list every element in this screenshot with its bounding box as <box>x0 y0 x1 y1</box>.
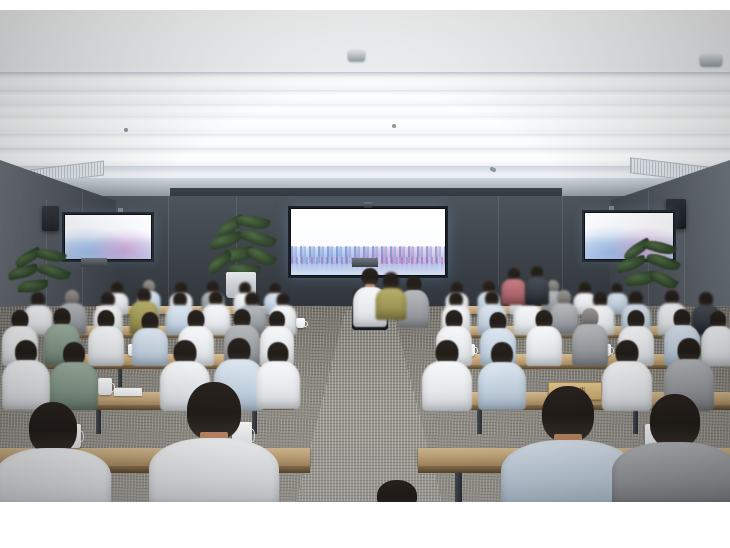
ceiling-light-strip <box>0 79 730 90</box>
conference-room-photo: 中子台 张建华 <box>0 10 730 502</box>
attendee-foreground <box>146 382 282 502</box>
camera-icon <box>363 202 373 208</box>
attendee-foreground <box>610 394 730 502</box>
ceiling-light-strip <box>0 154 730 166</box>
ceiling-speaker-icon <box>700 54 722 66</box>
attendee-foreground <box>0 402 120 502</box>
attendee-woman <box>374 272 408 318</box>
left-screen-mount <box>81 258 107 267</box>
attendee <box>524 266 550 304</box>
attendee <box>48 342 100 406</box>
attendee-foreground <box>352 480 442 502</box>
attendee <box>524 310 564 364</box>
smoke-detector-icon <box>348 50 365 61</box>
ceiling-light-strip <box>0 139 730 148</box>
document <box>114 388 142 396</box>
attendee <box>0 340 52 406</box>
ceiling-light-strip <box>0 120 730 134</box>
ceiling <box>0 10 730 192</box>
attendee <box>420 340 474 406</box>
mug <box>98 378 112 395</box>
screenshot-root: 中子台 张建华 <box>0 0 730 548</box>
ceiling-light-strip <box>0 95 730 104</box>
right-screen-mount <box>352 258 378 267</box>
wall-speaker <box>42 206 59 231</box>
ceiling-light-strip <box>0 108 730 116</box>
